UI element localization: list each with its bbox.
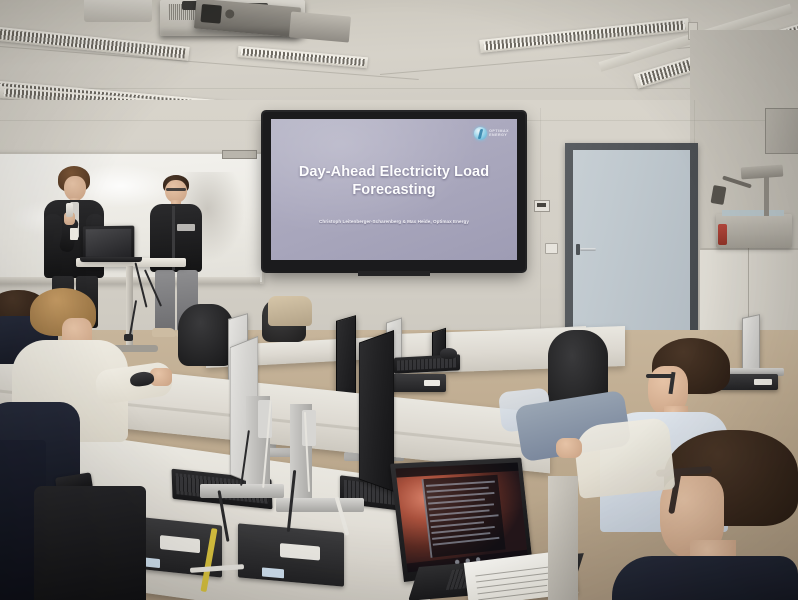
pc-2-front [238,523,344,586]
optimax-circle-logo-icon [474,127,487,140]
wall-outlet[interactable] [545,243,558,254]
mouse-1[interactable] [440,348,457,359]
monitor-front-3-back[interactable] [34,486,146,600]
person-torso [572,417,675,499]
slide-title-line-2: Forecasting [271,182,517,198]
cable-plug [124,334,133,341]
glasses-icon [166,188,186,191]
lecture-room-screenshot: OPTIMAX ENERGY Day-Ahead Electricity Loa… [0,0,798,600]
slide-title-line-1: Day-Ahead Electricity Load [271,164,517,180]
door-handle[interactable] [580,248,596,251]
presentation-display[interactable]: OPTIMAX ENERGY Day-Ahead Electricity Loa… [263,112,525,271]
shoe [152,328,176,337]
whiteboard-label [222,150,257,159]
laptop-screen [395,462,527,572]
desk-panel [548,476,578,600]
overhead-projector [716,214,792,248]
laptop-base [80,257,142,262]
slide-canvas: OPTIMAX ENERGY Day-Ahead Electricity Loa… [271,119,517,260]
pc-1 [386,374,446,392]
monitor-front-2[interactable] [359,330,394,492]
display-stand [358,271,430,276]
ceiling-panel-seam [0,88,798,89]
wall-speaker [765,108,798,154]
wall-thermostat[interactable] [534,200,550,212]
slide-subtitle: Christoph Leitenberger-Scharenberg & Max… [271,219,517,224]
presenter-laptop[interactable] [83,226,135,261]
wall-seam [540,108,541,348]
overhead-projector-glass [722,210,784,216]
optimax-logo: OPTIMAX ENERGY [474,127,509,140]
overhead-projector-post [764,172,769,216]
projector-shadow [160,30,300,38]
jacket-logo [177,224,195,231]
monitor-5[interactable] [742,314,760,376]
chair[interactable] [178,304,234,366]
projector-extension [289,11,351,42]
hand [556,438,582,458]
fire-extinguisher [718,224,727,245]
presenter-remote[interactable] [66,203,73,217]
coat-on-chair [268,296,312,326]
monitor-front-1-foot [200,484,284,498]
name-badge [70,228,78,240]
logo-name-line2: ENERGY [489,134,509,138]
projector-bracket [84,0,152,22]
